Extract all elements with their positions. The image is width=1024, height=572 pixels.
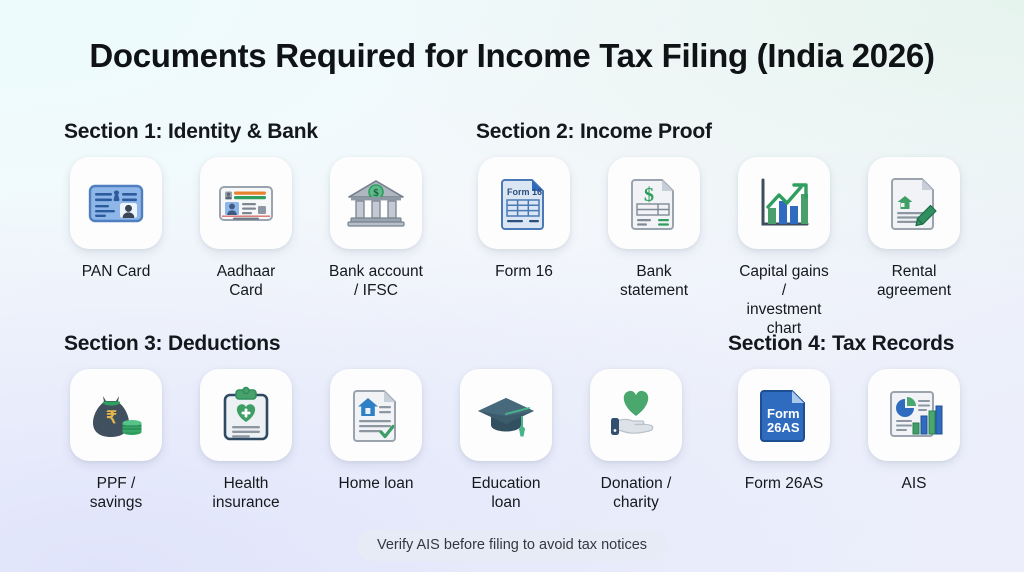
item-form-16[interactable]: Form 16 Form 16 xyxy=(476,157,572,281)
section-1-heading: Section 1: Identity & Bank xyxy=(64,120,318,144)
item-label: Health insurance xyxy=(198,474,294,512)
item-bank-account[interactable]: $ Bank account / IFSC xyxy=(328,157,424,300)
hand-heart-icon xyxy=(603,382,669,448)
item-icon-card: Form 26AS xyxy=(738,369,830,461)
svg-text:₹: ₹ xyxy=(106,408,117,427)
item-ais[interactable]: AIS xyxy=(866,369,962,493)
item-aadhaar-card[interactable]: Aadhaar Card xyxy=(198,157,294,300)
item-icon-card xyxy=(70,157,162,249)
dollar-document-icon: $ xyxy=(621,170,687,236)
item-bank-statement[interactable]: $ Bank statement xyxy=(606,157,702,300)
item-icon-card xyxy=(200,369,292,461)
item-label: Rental agreement xyxy=(866,262,962,300)
item-label: AIS xyxy=(866,474,962,493)
item-icon-card xyxy=(868,369,960,461)
form16-document-icon: Form 16 xyxy=(491,170,557,236)
item-home-loan[interactable]: Home loan xyxy=(328,369,424,493)
growth-bar-chart-icon xyxy=(751,170,817,236)
item-label: Form 16 xyxy=(476,262,572,281)
form26as-document-icon: Form 26AS xyxy=(751,382,817,448)
graduation-cap-icon xyxy=(473,382,539,448)
item-ppf-savings[interactable]: ₹ PPF / savings xyxy=(68,369,164,512)
form26as-line1: Form xyxy=(767,406,800,421)
item-label: PPF / savings xyxy=(68,474,164,512)
report-chart-icon xyxy=(881,382,947,448)
section-3-heading: Section 3: Deductions xyxy=(64,332,280,356)
item-icon-card xyxy=(590,369,682,461)
item-rental-agreement[interactable]: Rental agreement xyxy=(866,157,962,300)
item-icon-card xyxy=(200,157,292,249)
bank-building-icon: $ xyxy=(343,170,409,236)
item-pan-card[interactable]: PAN Card xyxy=(68,157,164,281)
item-icon-card xyxy=(868,157,960,249)
item-icon-card: Form 16 xyxy=(478,157,570,249)
item-icon-card xyxy=(738,157,830,249)
item-label: Donation / charity xyxy=(588,474,684,512)
item-health-insurance[interactable]: Health insurance xyxy=(198,369,294,512)
item-label: Aadhaar Card xyxy=(198,262,294,300)
svg-text:$: $ xyxy=(644,184,654,206)
item-icon-card: $ xyxy=(608,157,700,249)
form26as-line2: 26AS xyxy=(767,420,800,435)
item-label: Capital gains / investment chart xyxy=(736,262,832,338)
section-2-heading: Section 2: Income Proof xyxy=(476,120,712,144)
item-label: Home loan xyxy=(328,474,424,493)
infographic-page: Documents Required for Income Tax Filing… xyxy=(0,0,1024,572)
item-capital-gains[interactable]: Capital gains / investment chart xyxy=(736,157,832,338)
item-icon-card xyxy=(330,369,422,461)
rupee-money-bag-icon: ₹ xyxy=(83,382,149,448)
item-icon-card: ₹ xyxy=(70,369,162,461)
item-label: Bank statement xyxy=(606,262,702,300)
page-title: Documents Required for Income Tax Filing… xyxy=(0,37,1024,75)
item-label: Bank account / IFSC xyxy=(328,262,424,300)
house-contract-pencil-icon xyxy=(881,170,947,236)
item-icon-card: $ xyxy=(330,157,422,249)
item-label: PAN Card xyxy=(68,262,164,281)
item-icon-card xyxy=(460,369,552,461)
item-donation-charity[interactable]: Donation / charity xyxy=(588,369,684,512)
item-label: Education loan xyxy=(458,474,554,512)
footer-note-badge: Verify AIS before filing to avoid tax no… xyxy=(357,530,667,561)
house-document-check-icon xyxy=(343,382,409,448)
aadhaar-card-icon xyxy=(213,170,279,236)
clipboard-heart-icon xyxy=(213,382,279,448)
id-card-icon xyxy=(83,170,149,236)
item-form-26as[interactable]: Form 26AS Form 26AS xyxy=(736,369,832,493)
form16-label: Form 16 xyxy=(507,187,542,197)
item-label: Form 26AS xyxy=(736,474,832,493)
item-education-loan[interactable]: Education loan xyxy=(458,369,554,512)
